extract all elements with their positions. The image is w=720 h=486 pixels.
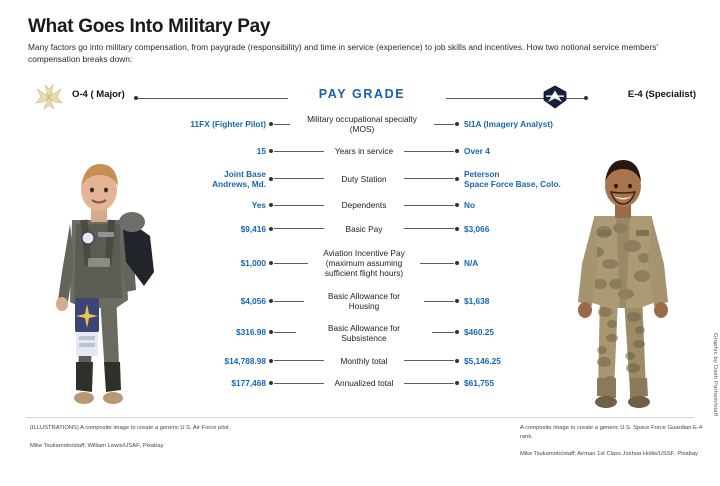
row-label: Duty Station: [330, 174, 398, 184]
arrow-to-right: [398, 224, 460, 233]
caption-right-description: A composite image to create a generic U.…: [520, 424, 710, 441]
page-title: What Goes Into Military Pay: [28, 16, 270, 38]
space-force-delta-insignia: [542, 85, 568, 109]
row-value-left: $1,000: [150, 258, 268, 268]
page-subtitle: Many factors go into military compensati…: [28, 42, 700, 65]
row-label: Basic Allowance for Housing: [310, 291, 418, 311]
row-value-right: 5I1A (Imagery Analyst): [460, 119, 580, 129]
row-label: Monthly total: [330, 356, 398, 366]
arrow-to-left: [268, 356, 330, 365]
graphic-credit: Graphic by Dash Parham/staff: [712, 333, 718, 416]
row-value-right: N/A: [460, 258, 580, 268]
row-label: Military occupational specialty (MOS): [296, 114, 428, 134]
row-value-right: $5,146.25: [460, 356, 580, 366]
row-value-right: $3,066: [460, 224, 580, 234]
rank-right-label: E-4 (Specialist): [628, 89, 696, 100]
row-value-right: $460.25: [460, 327, 580, 337]
line-dot-right: [584, 96, 588, 100]
row-label: Basic Pay: [330, 224, 398, 234]
caption-left-credit: Mike Tsukamoto/staff; William Lewis/USAF…: [30, 442, 245, 451]
arrow-to-right: [428, 120, 460, 129]
row-value-left: $177,468: [150, 378, 268, 388]
air-force-pilot-photo: [36, 112, 168, 412]
pay-grade-bar: O-4 ( Major) PAY GRADE E-4 (Specialist): [28, 84, 696, 110]
comparison-row: 11FX (Fighter Pilot)Military occupationa…: [150, 114, 580, 134]
row-value-left: 15: [150, 146, 268, 156]
arrow-to-left: [268, 147, 330, 156]
caption-left-description: (ILLUSTRATIONS) A composite image to cre…: [30, 424, 245, 433]
arrow-to-left: [268, 201, 330, 210]
arrow-to-left: [268, 120, 296, 129]
row-label: Annualized total: [330, 378, 398, 388]
comparison-row: $316.98Basic Allowance for Subsistence$4…: [150, 323, 580, 343]
row-value-right: $1,638: [460, 296, 580, 306]
row-value-right: Over 4: [460, 146, 580, 156]
arrow-to-left: [268, 328, 302, 337]
row-label: Years in service: [330, 146, 398, 156]
comparison-row: Joint BaseAndrews, Md.Duty StationPeters…: [150, 169, 580, 190]
row-value-right: PetersonSpace Force Base, Colo.: [460, 169, 580, 190]
comparison-row: $9,416Basic Pay$3,066: [150, 224, 580, 234]
caption-right: A composite image to create a generic U.…: [520, 424, 710, 459]
comparison-row: $177,468Annualized total$61,755: [150, 378, 580, 388]
row-label: Dependents: [330, 200, 398, 210]
comparison-row: $4,056Basic Allowance for Housing$1,638: [150, 291, 580, 311]
comparison-row: $14,788.98Monthly total$5,146.25: [150, 356, 580, 366]
comparison-row: YesDependentsNo: [150, 200, 580, 210]
comparison-table: 11FX (Fighter Pilot)Military occupationa…: [150, 114, 580, 389]
comparison-row: 15Years in serviceOver 4: [150, 146, 580, 156]
arrow-to-right: [414, 259, 460, 268]
arrow-to-left: [268, 259, 314, 268]
arrow-to-left: [268, 174, 330, 183]
arrow-to-right: [398, 174, 460, 183]
row-value-left: 11FX (Fighter Pilot): [150, 119, 268, 129]
row-value-left: Joint BaseAndrews, Md.: [150, 169, 268, 190]
arrow-to-right: [426, 328, 460, 337]
footer-divider: [26, 417, 694, 418]
caption-left: (ILLUSTRATIONS) A composite image to cre…: [30, 424, 245, 450]
row-value-left: $9,416: [150, 224, 268, 234]
arrow-to-left: [268, 297, 310, 306]
row-value-left: $316.98: [150, 327, 268, 337]
row-value-right: $61,755: [460, 378, 580, 388]
arrow-to-left: [268, 224, 330, 233]
infographic-page: What Goes Into Military Pay Many factors…: [0, 0, 720, 486]
row-value-left: Yes: [150, 200, 268, 210]
row-label: Aviation Incentive Pay(maximum assumings…: [314, 248, 414, 278]
arrow-to-right: [398, 356, 460, 365]
arrow-to-left: [268, 379, 330, 388]
row-value-right: No: [460, 200, 580, 210]
row-value-left: $4,056: [150, 296, 268, 306]
row-value-left: $14,788.98: [150, 356, 268, 366]
comparison-row: $1,000Aviation Incentive Pay(maximum ass…: [150, 248, 580, 278]
caption-right-credit: Mike Tsukamoto/staff; Airman 1st Class J…: [520, 450, 710, 459]
arrow-to-right: [398, 147, 460, 156]
arrow-to-right: [398, 379, 460, 388]
pay-grade-title: PAY GRADE: [28, 87, 696, 101]
arrow-to-right: [418, 297, 460, 306]
row-label: Basic Allowance for Subsistence: [302, 323, 426, 343]
arrow-to-right: [398, 201, 460, 210]
